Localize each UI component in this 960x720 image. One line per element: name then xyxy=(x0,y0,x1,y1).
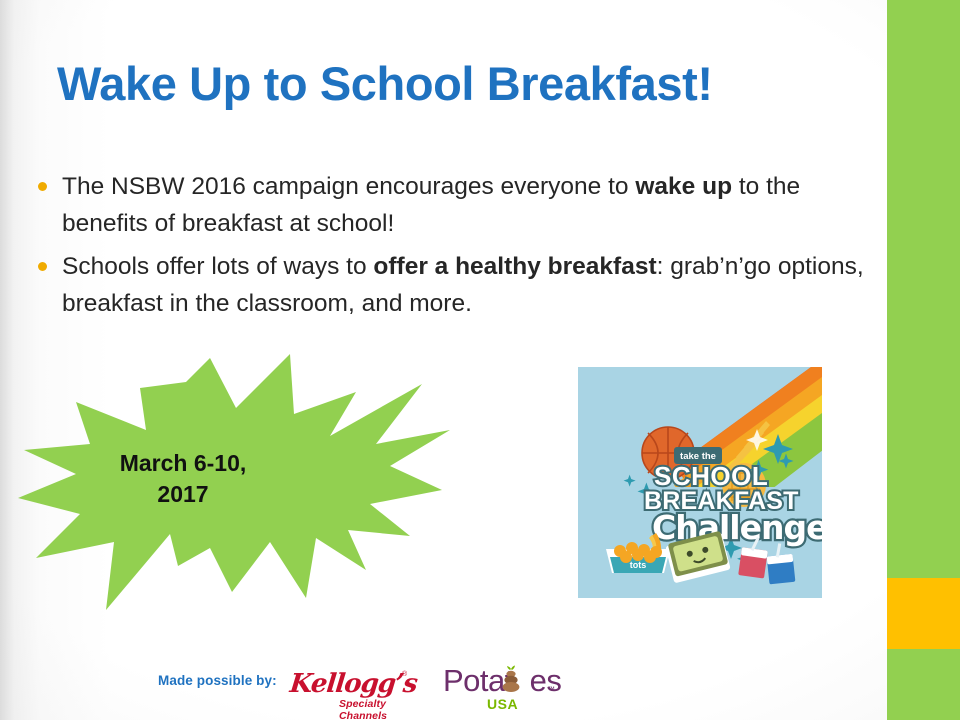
slide-canvas: Wake Up to School Breakfast! The NSBW 20… xyxy=(0,0,960,720)
potatoes-usa-logo: Potatoes ™ USA xyxy=(443,663,563,717)
svg-text:tots: tots xyxy=(630,560,647,570)
challenge-artwork-icon: take the SCHOOL BREAKFAST Challenge xyxy=(578,367,822,598)
starburst-text: March 6-10, 2017 xyxy=(18,448,348,510)
potatoes-trademark-icon: ™ xyxy=(547,685,555,694)
decorative-orange-block xyxy=(887,578,960,649)
starburst-line-1: March 6-10, xyxy=(18,448,348,479)
potatoes-subtitle: USA xyxy=(487,696,518,712)
footer-sponsors: Made possible by: Kellogg’s ® Specialty … xyxy=(158,665,578,717)
bullet-1-emphasis: wake up xyxy=(635,173,732,200)
bullet-list: The NSBW 2016 campaign encourages everyo… xyxy=(30,168,880,328)
school-breakfast-challenge-image: take the SCHOOL BREAKFAST Challenge xyxy=(578,367,822,598)
bullet-2-emphasis: offer a healthy breakfast xyxy=(373,253,656,280)
potato-stack-icon xyxy=(499,665,523,695)
page-title: Wake Up to School Breakfast! xyxy=(57,58,857,110)
kelloggs-trademark-icon: ® xyxy=(402,671,407,678)
kelloggs-wordmark: Kellogg’s xyxy=(288,669,418,699)
made-possible-label: Made possible by: xyxy=(158,673,277,688)
starburst-line-2: 2017 xyxy=(18,479,348,510)
bullet-2-lead: Schools offer lots of ways to xyxy=(62,253,373,280)
kelloggs-subtitle: Specialty Channels xyxy=(339,698,415,720)
starburst-callout: March 6-10, 2017 xyxy=(18,352,458,620)
potatoes-word-end: es xyxy=(530,663,562,698)
bullet-dot-icon xyxy=(38,262,47,271)
bullet-dot-icon xyxy=(38,182,47,191)
list-item: Schools offer lots of ways to offer a he… xyxy=(30,248,880,322)
svg-text:Challenge: Challenge xyxy=(652,508,822,547)
kelloggs-logo: Kellogg’s ® Specialty Channels xyxy=(290,665,415,713)
bullet-1-lead: The NSBW 2016 campaign encourages everyo… xyxy=(62,173,635,200)
list-item: The NSBW 2016 campaign encourages everyo… xyxy=(30,168,880,242)
